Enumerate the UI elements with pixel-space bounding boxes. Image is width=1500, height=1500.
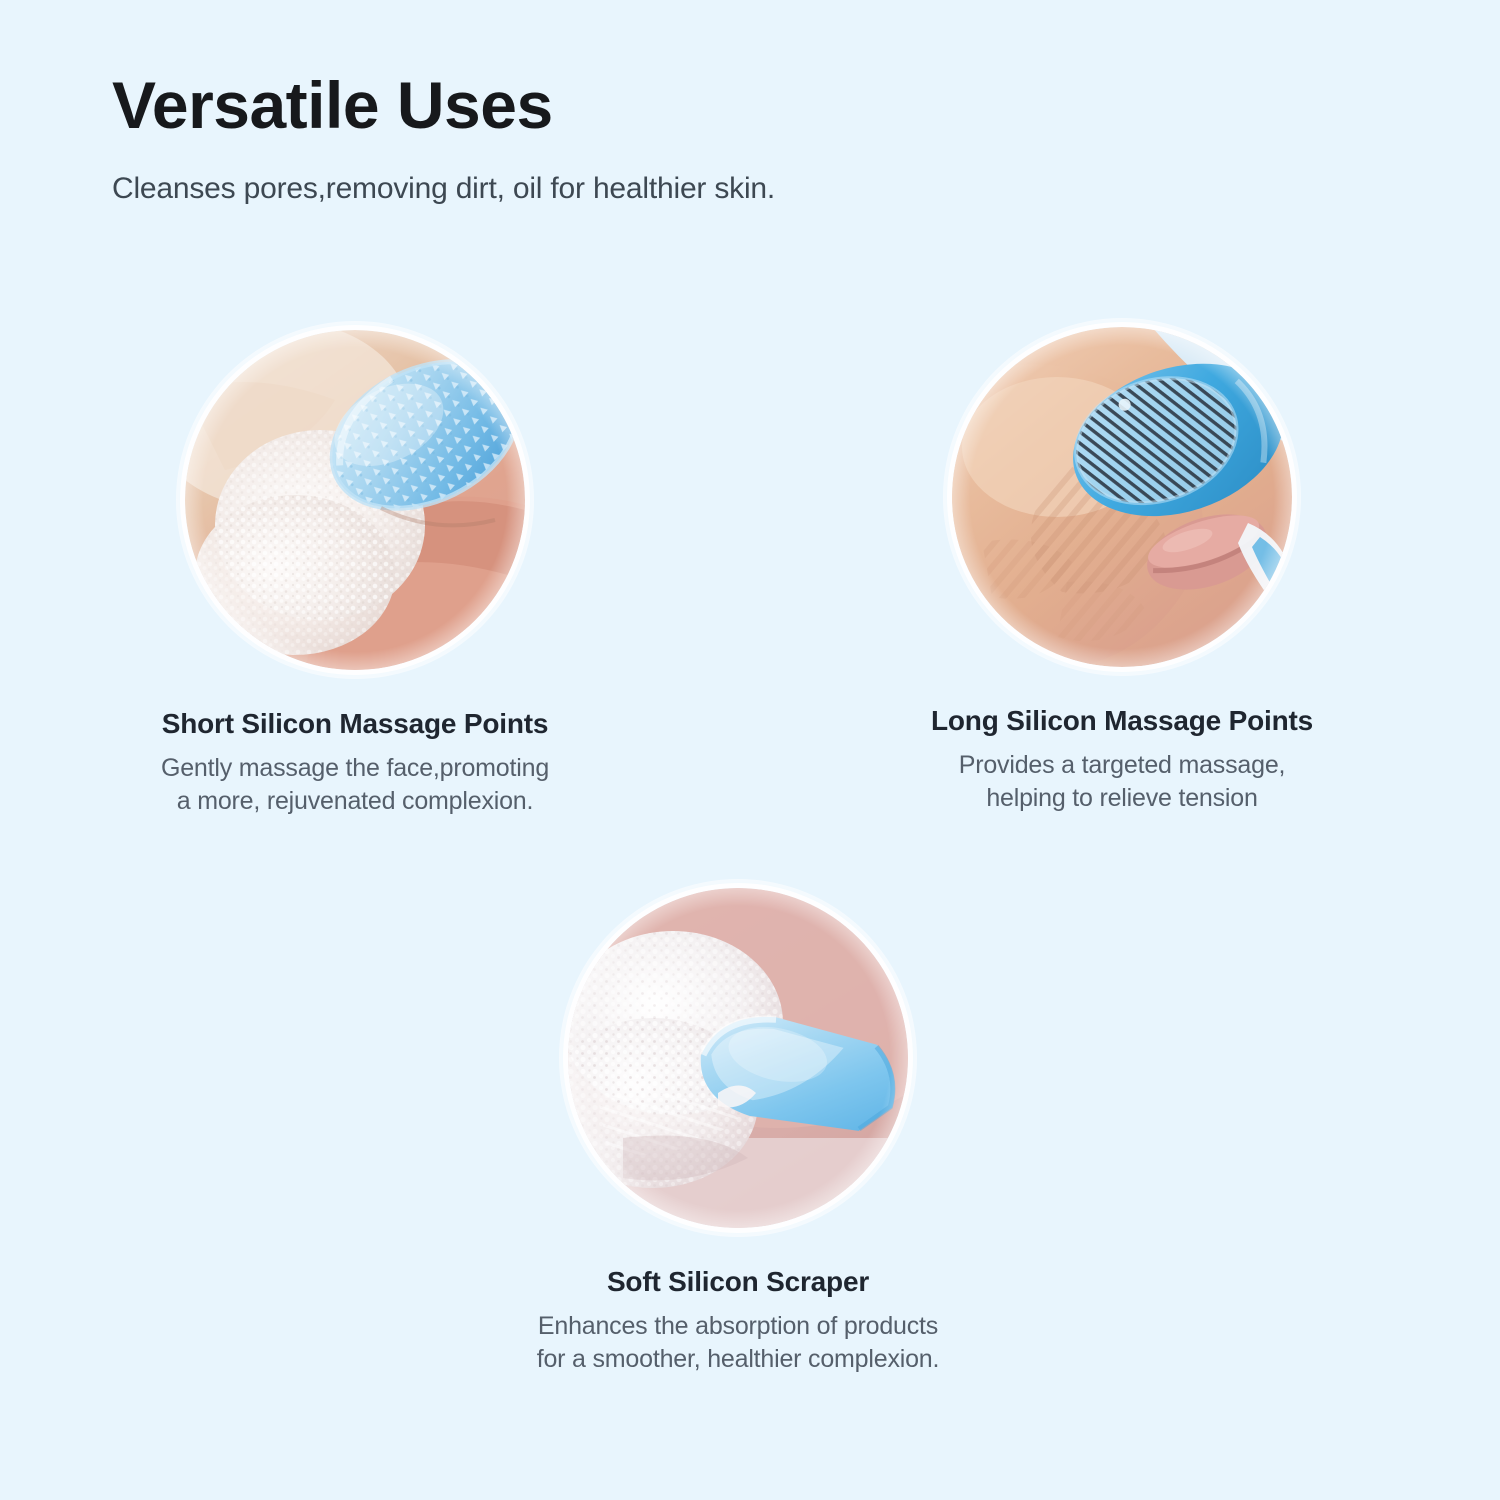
- feature-title: Long Silicon Massage Points: [862, 667, 1382, 737]
- feature-description-line-1: Provides a targeted massage,: [862, 749, 1382, 782]
- feature-description-line-1: Enhances the absorption of products: [478, 1310, 998, 1343]
- feature-title: Short Silicon Massage Points: [95, 670, 615, 740]
- feature-card-long-massage-points: Long Silicon Massage Points Provides a t…: [862, 327, 1382, 815]
- feature-description: Provides a targeted massage, helping to …: [862, 737, 1382, 815]
- feature-description-line-2: helping to relieve tension: [862, 782, 1382, 815]
- feature-description-line-1: Gently massage the face,promoting: [95, 752, 615, 785]
- photo-long-massage-points: [952, 327, 1292, 667]
- feature-image-wrapper: [568, 888, 908, 1228]
- page-title: Versatile Uses: [112, 72, 1412, 138]
- page-subtitle: Cleanses pores,removing dirt, oil for he…: [112, 138, 1412, 206]
- feature-description: Enhances the absorption of products for …: [478, 1298, 998, 1376]
- photo-short-massage-points: [185, 330, 525, 670]
- feature-description-line-2: for a smoother, healthier complexion.: [478, 1343, 998, 1376]
- page-header: Versatile Uses Cleanses pores,removing d…: [112, 72, 1412, 206]
- feature-description-line-2: a more, rejuvenated complexion.: [95, 785, 615, 818]
- photo-soft-scraper: [568, 888, 908, 1228]
- feature-image-wrapper: [952, 327, 1292, 667]
- feature-card-soft-scraper: Soft Silicon Scraper Enhances the absorp…: [478, 888, 998, 1376]
- feature-image-wrapper: [185, 330, 525, 670]
- feature-description: Gently massage the face,promoting a more…: [95, 740, 615, 818]
- feature-card-short-massage-points: Short Silicon Massage Points Gently mass…: [95, 330, 615, 818]
- feature-title: Soft Silicon Scraper: [478, 1228, 998, 1298]
